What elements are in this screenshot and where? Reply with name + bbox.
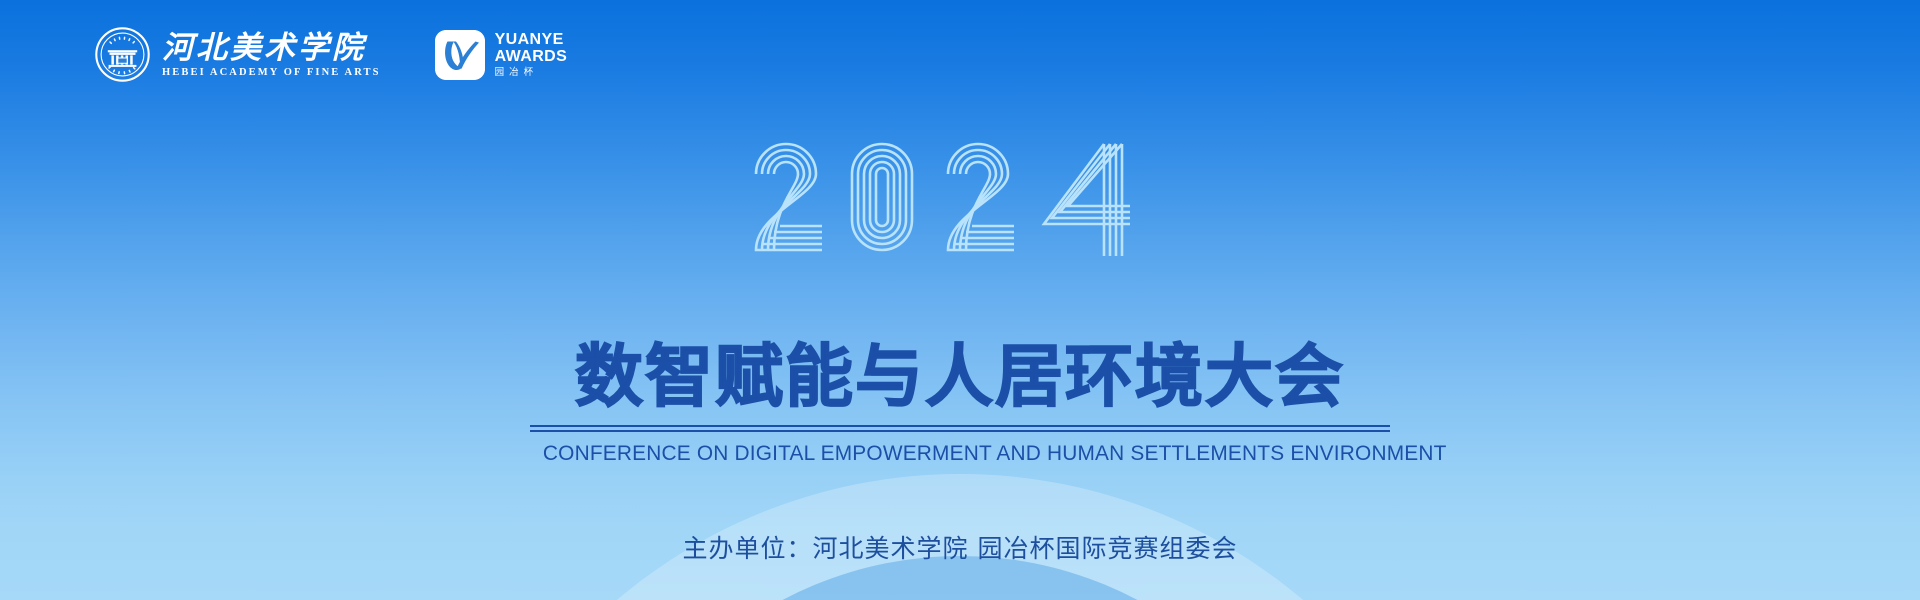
year-digit-0: [852, 144, 912, 250]
logo-bar: 河北美术学院 HEBEI ACADEMY OF FINE ARTS YUANYE…: [95, 27, 567, 82]
conference-banner: 河北美术学院 HEBEI ACADEMY OF FINE ARTS YUANYE…: [0, 0, 1920, 600]
title-divider-2: [530, 430, 1390, 432]
yuanye-line2: AWARDS: [495, 48, 568, 65]
year-digit-2a: [756, 144, 822, 250]
yuanye-line1: YUANYE: [495, 31, 568, 48]
year-digit-4: [1044, 144, 1130, 256]
page-title: 数智赋能与人居环境大会: [530, 340, 1390, 416]
yuanye-name-cn: 园冶杯: [495, 66, 568, 79]
organizer-line: 主办单位：河北美术学院 园冶杯国际竞赛组委会: [683, 533, 1238, 565]
hebei-name-cn: 河北美术学院: [162, 31, 381, 65]
hebei-academy-seal-icon: [95, 27, 150, 82]
hebei-academy-logo[interactable]: 河北美术学院 HEBEI ACADEMY OF FINE ARTS: [95, 27, 381, 82]
hebei-academy-wordmark: 河北美术学院 HEBEI ACADEMY OF FINE ARTS: [162, 31, 381, 79]
page-subtitle-en: CONFERENCE ON DIGITAL EMPOWERMENT AND HU…: [543, 441, 1377, 466]
year-graphic-2024: [750, 138, 1170, 268]
title-divider-1: [530, 425, 1390, 427]
title-divider-group: [530, 425, 1390, 432]
headline-block: 数智赋能与人居环境大会 CONFERENCE ON DIGITAL EMPOWE…: [530, 340, 1390, 466]
year-digit-2b: [948, 144, 1014, 250]
yuanye-awards-wordmark: YUANYE AWARDS 园冶杯: [495, 31, 568, 79]
yuanye-awards-mark-icon: [435, 30, 485, 80]
yuanye-awards-logo[interactable]: YUANYE AWARDS 园冶杯: [435, 30, 568, 80]
hebei-name-en: HEBEI ACADEMY OF FINE ARTS: [162, 67, 381, 79]
